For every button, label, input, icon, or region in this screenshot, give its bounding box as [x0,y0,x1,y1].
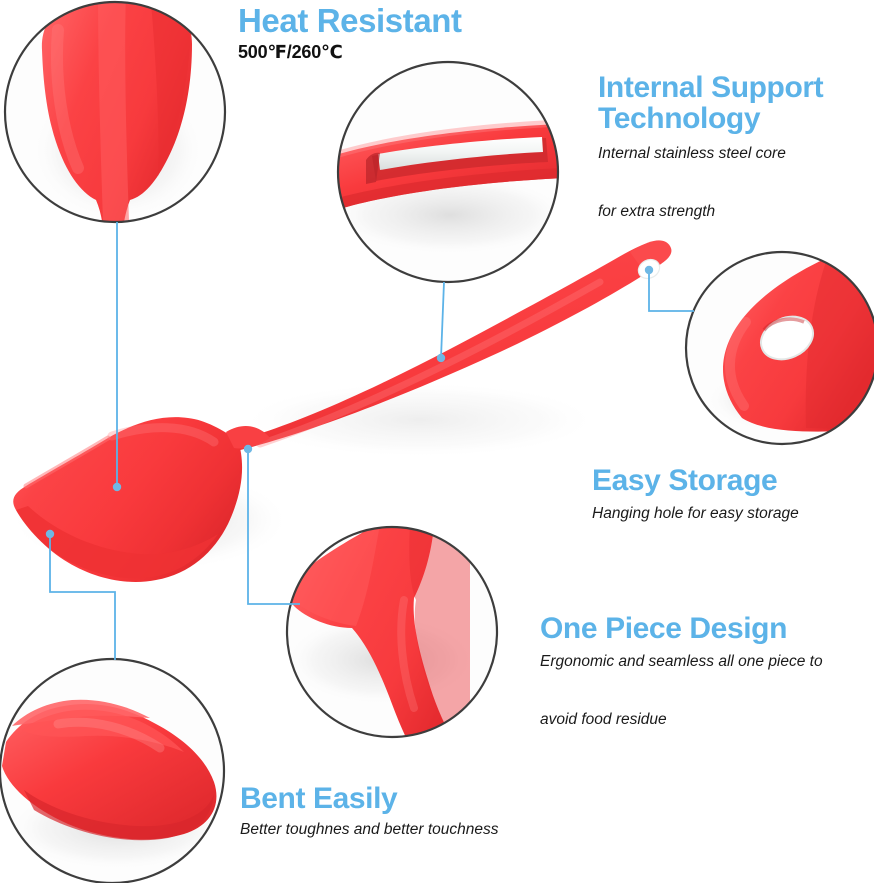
feature-one-piece-design: One Piece Design Ergonomic and seamless … [540,613,874,734]
feature-heat-resistant: Heat Resistant 500℉/260℃ [238,4,462,63]
feature-easy-storage: Easy Storage Hanging hole for easy stora… [592,465,874,529]
feature-internal-support: Internal Support Technology Internal sta… [598,72,874,226]
feature-desc-easy-storage: Hanging hole for easy storage [592,500,874,529]
callout-hanging-hole [686,252,874,444]
feature-title-heat-resistant: Heat Resistant [238,4,462,38]
feature-temperature-rating: 500℉/260℃ [238,42,462,63]
main-spatula [10,240,671,582]
callout-one-piece [285,524,497,778]
feature-title-internal-support: Internal Support Technology [598,72,874,134]
feature-title-easy-storage: Easy Storage [592,465,874,496]
feature-bent-easily: Bent Easily Better toughnes and better t… [240,783,660,845]
feature-title-bent-easily: Bent Easily [240,783,660,814]
infographic-canvas: Heat Resistant 500℉/260℃ Internal Suppor… [0,0,874,883]
callout-spatula-head [5,0,225,248]
feature-desc-bent-easily: Better toughnes and better touchness [240,816,660,845]
callout-bent-edge [0,659,228,883]
feature-title-one-piece-design: One Piece Design [540,613,874,644]
feature-desc-internal-support: Internal stainless steel core for extra … [598,140,874,226]
callout-steel-core [326,62,570,282]
feature-desc-one-piece-design: Ergonomic and seamless all one piece to … [540,648,874,734]
